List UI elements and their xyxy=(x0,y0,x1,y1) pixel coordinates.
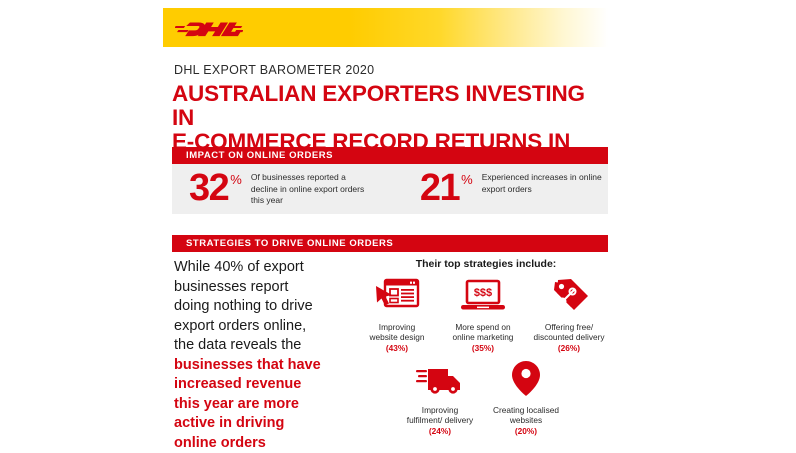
stat-figure: 32 % xyxy=(189,169,242,207)
strategy-label-line2: websites xyxy=(510,415,542,425)
svg-text:$$$: $$$ xyxy=(474,287,492,299)
strategy-percent: (24%) xyxy=(429,426,451,436)
strategy-percent: (20%) xyxy=(515,426,537,436)
strategy-label: Offering free/ discounted delivery xyxy=(533,322,604,342)
body-copy-emphasis: businesses that have increased revenue t… xyxy=(174,357,321,451)
strategy-label-line2: online marketing xyxy=(453,332,514,342)
strategy-item: Improving fulfilment/ delivery (24%) xyxy=(397,357,483,436)
strategy-label: More spend on online marketing xyxy=(453,322,514,342)
icon-row: Improving website design (43%) $$$ More … xyxy=(352,274,614,353)
kicker-text: DHL EXPORT BAROMETER 2020 xyxy=(174,63,374,77)
strategy-percent: (35%) xyxy=(472,343,494,353)
strategy-label-line2: fulfilment/ delivery xyxy=(407,415,473,425)
strategies-icon-grid: Improving website design (43%) $$$ More … xyxy=(352,274,614,436)
map-pin-icon xyxy=(511,357,541,401)
strategy-label: Improving website design xyxy=(370,322,425,342)
section-bar-impact: IMPACT ON ONLINE ORDERS xyxy=(172,147,608,164)
strategy-label: Improving fulfilment/ delivery xyxy=(407,405,473,425)
strategy-label: Creating localised websites xyxy=(493,405,559,425)
strategy-label-line1: Improving xyxy=(379,322,415,332)
dhl-logo xyxy=(175,19,243,37)
strategy-label-line2: discounted delivery xyxy=(533,332,604,342)
stat-block: 21 % Experienced increases in online exp… xyxy=(420,169,606,214)
strategy-item: Offering free/ discounted delivery (26%) xyxy=(526,274,612,353)
stat-number: 21 xyxy=(420,169,459,207)
section-bar-strategies: STRATEGIES TO DRIVE ONLINE ORDERS xyxy=(172,235,608,252)
headline-line-1: AUSTRALIAN EXPORTERS INVESTING IN xyxy=(172,81,585,130)
stat-figure: 21 % xyxy=(420,169,473,207)
stat-percent-symbol: % xyxy=(230,173,242,186)
stat-description: Of businesses reported a decline in onli… xyxy=(251,172,375,207)
strategy-item: Improving website design (43%) xyxy=(354,274,440,353)
strategy-item: Creating localised websites (20%) xyxy=(483,357,569,436)
strategies-title: Their top strategies include: xyxy=(362,258,610,270)
body-copy-plain: While 40% of export businesses report do… xyxy=(174,259,313,353)
laptop-dollars-icon: $$$ xyxy=(460,274,506,318)
stat-description: Experienced increases in online export o… xyxy=(482,172,606,195)
stat-percent-symbol: % xyxy=(461,173,473,186)
browser-window-cursor-icon xyxy=(374,274,420,318)
strategy-label-line1: Offering free/ xyxy=(545,322,593,332)
impact-stats-panel: 32 % Of businesses reported a decline in… xyxy=(172,164,608,214)
discount-price-tag-icon xyxy=(547,274,591,318)
stat-number: 32 xyxy=(189,169,228,207)
strategy-item: $$$ More spend on online marketing (35%) xyxy=(440,274,526,353)
infographic-page: DHL EXPORT BAROMETER 2020 AUSTRALIAN EXP… xyxy=(0,0,796,448)
strategy-label-line1: More spend on xyxy=(455,322,510,332)
body-copy: While 40% of export businesses report do… xyxy=(174,258,326,453)
strategy-label-line2: website design xyxy=(370,332,425,342)
icon-row: Improving fulfilment/ delivery (24%) Cre… xyxy=(352,357,614,436)
stat-block: 32 % Of businesses reported a decline in… xyxy=(189,169,375,214)
delivery-van-icon xyxy=(415,357,465,401)
strategy-label-line1: Improving xyxy=(422,405,458,415)
strategy-percent: (26%) xyxy=(558,343,580,353)
strategy-percent: (43%) xyxy=(386,343,408,353)
strategy-label-line1: Creating localised xyxy=(493,405,559,415)
